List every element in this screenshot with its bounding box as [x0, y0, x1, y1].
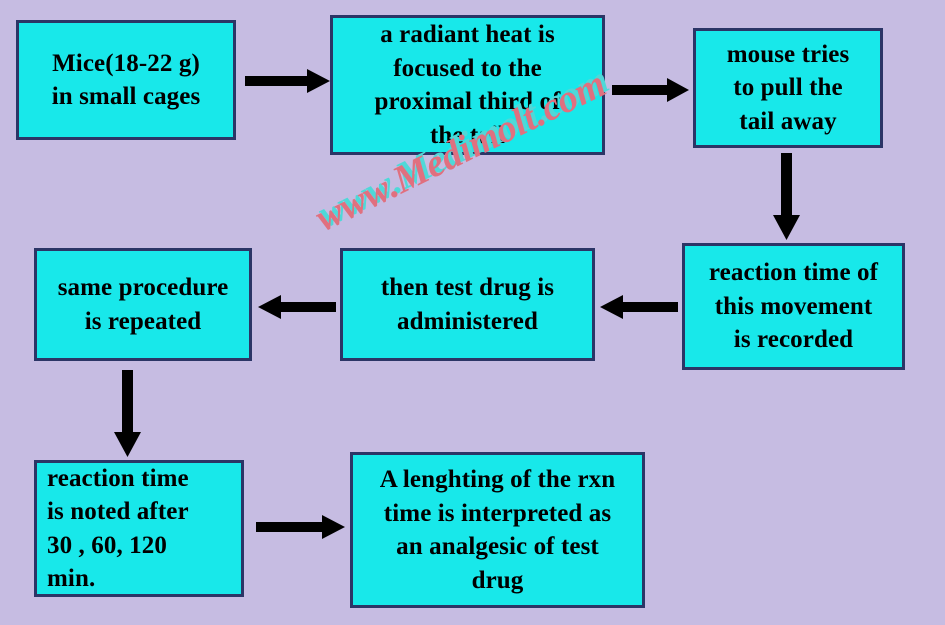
node-reaction-time-noted-line2: is noted after — [47, 495, 189, 529]
arrow-left-icon-testdrug-to-repeat — [258, 292, 336, 322]
arrow-right-icon-radiant-to-pull — [612, 75, 690, 105]
node-test-drug-administered-line2: administered — [381, 305, 554, 339]
node-reaction-time-recorded-line2: this movement — [709, 290, 878, 324]
node-radiant-heat-line3: proximal third of — [375, 85, 561, 119]
node-radiant-heat-line1: a radiant heat is — [375, 18, 561, 52]
node-mice-line2: in small cages — [52, 80, 201, 114]
node-analgesic-interpretation-line2: time is interpreted as — [380, 497, 616, 531]
node-mouse-pulls-tail-line1: mouse tries — [727, 38, 850, 72]
arrow-right-icon-noted-to-interpreted — [256, 512, 346, 542]
node-reaction-time-recorded-line1: reaction time of — [709, 256, 878, 290]
arrow-down-icon-pull-to-record — [772, 153, 802, 241]
node-analgesic-interpretation-line3: an analgesic of test — [380, 530, 616, 564]
node-reaction-time-noted[interactable]: reaction time is noted after 30 , 60, 12… — [34, 460, 244, 597]
node-mouse-pulls-tail[interactable]: mouse tries to pull the tail away — [693, 28, 883, 148]
node-analgesic-interpretation-line4: drug — [380, 564, 616, 598]
arrow-down-icon-repeat-to-noted — [113, 370, 143, 458]
node-mice[interactable]: Mice(18-22 g) in small cages — [16, 20, 236, 140]
node-radiant-heat-line4: the tail — [375, 119, 561, 153]
node-mice-line1: Mice(18-22 g) — [52, 47, 201, 81]
arrow-left-icon-record-to-testdrug — [600, 292, 678, 322]
node-mouse-pulls-tail-line3: tail away — [727, 105, 850, 139]
node-same-procedure-repeated-line1: same procedure — [58, 271, 229, 305]
node-test-drug-administered[interactable]: then test drug is administered — [340, 248, 595, 361]
node-reaction-time-noted-line3: 30 , 60, 120 — [47, 529, 189, 563]
node-reaction-time-recorded-line3: is recorded — [709, 323, 878, 357]
node-analgesic-interpretation-line1: A lenghting of the rxn — [380, 463, 616, 497]
arrow-right-icon-mice-to-radiant — [245, 66, 331, 96]
node-same-procedure-repeated-line2: is repeated — [58, 305, 229, 339]
flowchart-canvas: Mice(18-22 g) in small cages a radiant h… — [0, 0, 945, 625]
node-radiant-heat-line2: focused to the — [375, 52, 561, 86]
node-reaction-time-noted-line4: min. — [47, 562, 189, 596]
node-test-drug-administered-line1: then test drug is — [381, 271, 554, 305]
node-mouse-pulls-tail-line2: to pull the — [727, 71, 850, 105]
node-analgesic-interpretation[interactable]: A lenghting of the rxn time is interpret… — [350, 452, 645, 608]
node-same-procedure-repeated[interactable]: same procedure is repeated — [34, 248, 252, 361]
node-reaction-time-recorded[interactable]: reaction time of this movement is record… — [682, 243, 905, 370]
node-radiant-heat[interactable]: a radiant heat is focused to the proxima… — [330, 15, 605, 155]
node-reaction-time-noted-line1: reaction time — [47, 462, 189, 496]
